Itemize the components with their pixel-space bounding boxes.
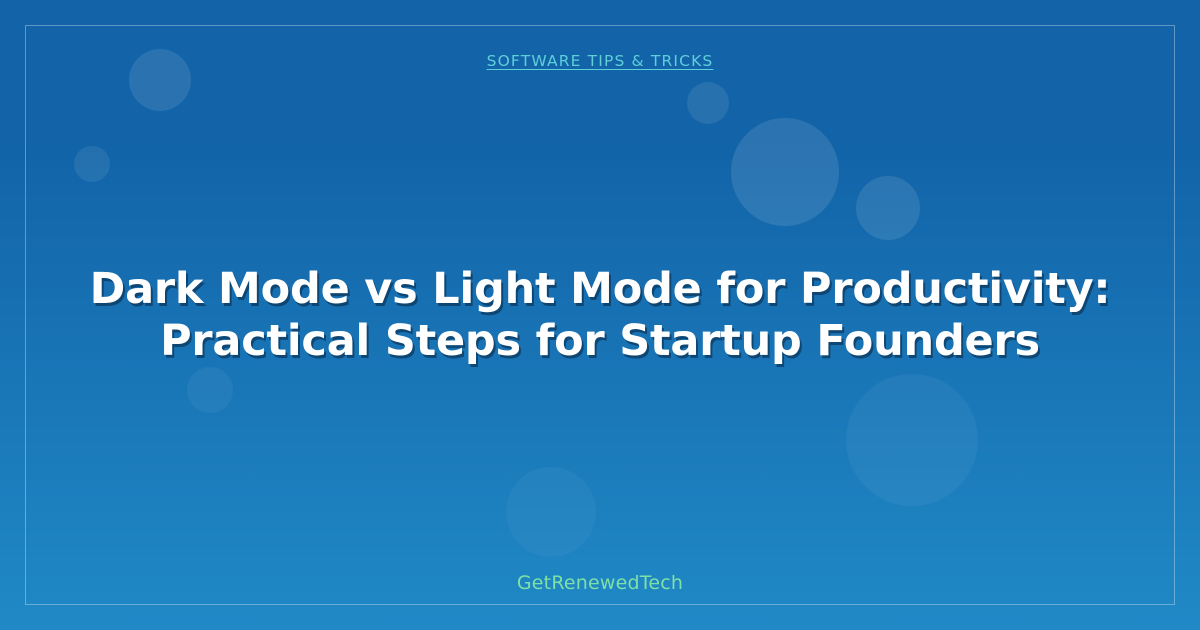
title-block: Dark Mode vs Light Mode for Productivity… — [0, 263, 1200, 367]
social-share-card: SOFTWARE TIPS & TRICKS Dark Mode vs Ligh… — [0, 0, 1200, 630]
category-eyebrow-label: SOFTWARE TIPS & TRICKS — [487, 52, 714, 70]
page-title-line-2: Practical Steps for Startup Founders — [70, 315, 1130, 367]
page-title: Dark Mode vs Light Mode for Productivity… — [70, 263, 1130, 367]
page-title-line-1: Dark Mode vs Light Mode for Productivity… — [70, 263, 1130, 315]
footer-brand-label: GetRenewedTech — [0, 572, 1200, 594]
card-content: SOFTWARE TIPS & TRICKS Dark Mode vs Ligh… — [0, 0, 1200, 630]
